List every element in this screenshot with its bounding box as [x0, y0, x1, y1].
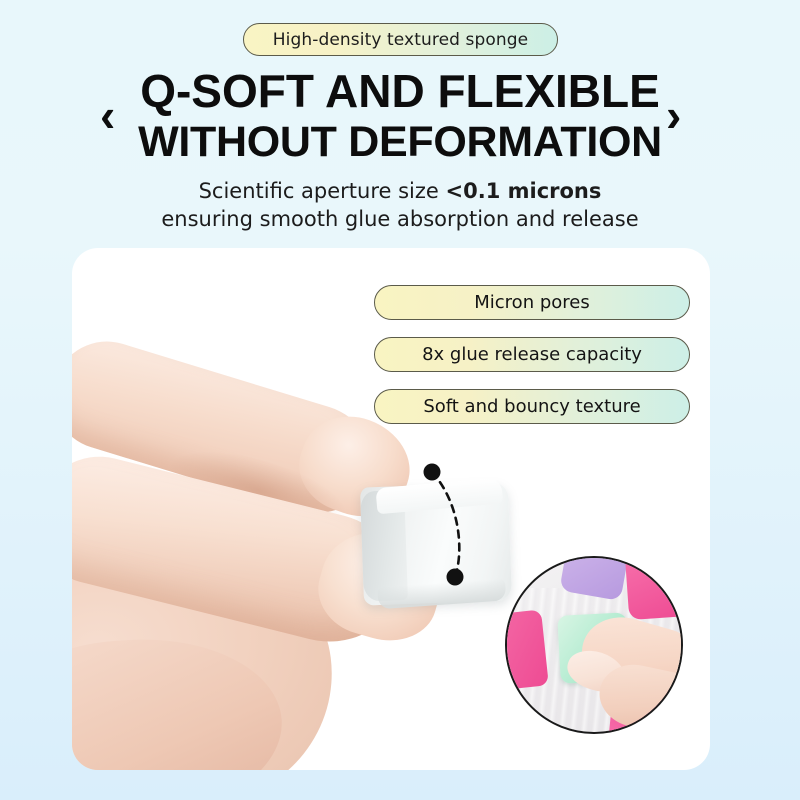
feature-pill-micron-pores: Micron pores — [374, 285, 690, 320]
product-poster: High-density textured sponge ‹ › Q-SOFT … — [0, 0, 800, 800]
feature-pill-soft-bouncy: Soft and bouncy texture — [374, 389, 690, 424]
feature-pill-label: Micron pores — [474, 292, 589, 313]
headline-line-2: WITHOUT DEFORMATION — [0, 121, 800, 164]
white-sponge — [360, 482, 512, 605]
subheadline-emphasis: <0.1 microns — [446, 179, 602, 203]
subheadline-line-1: Scientific aperture size <0.1 microns — [0, 178, 800, 206]
headline: Q-SOFT AND FLEXIBLE WITHOUT DEFORMATION — [0, 68, 800, 164]
subheadline-line-2: ensuring smooth glue absorption and rele… — [0, 206, 800, 234]
top-badge-pill: High-density textured sponge — [243, 23, 558, 56]
subheadline: Scientific aperture size <0.1 microns en… — [0, 178, 800, 234]
top-badge-label: High-density textured sponge — [273, 30, 528, 50]
inset-sponge-pink-left — [505, 609, 549, 690]
inset-sponge-pink-top-right — [625, 556, 683, 620]
headline-line-1: Q-SOFT AND FLEXIBLE — [0, 68, 800, 114]
feature-pill-label: 8x glue release capacity — [422, 344, 642, 365]
feature-pill-glue-release: 8x glue release capacity — [374, 337, 690, 372]
feature-pill-label: Soft and bouncy texture — [423, 396, 640, 417]
subheadline-prefix: Scientific aperture size — [199, 179, 446, 203]
inset-circle-photo — [505, 556, 683, 734]
